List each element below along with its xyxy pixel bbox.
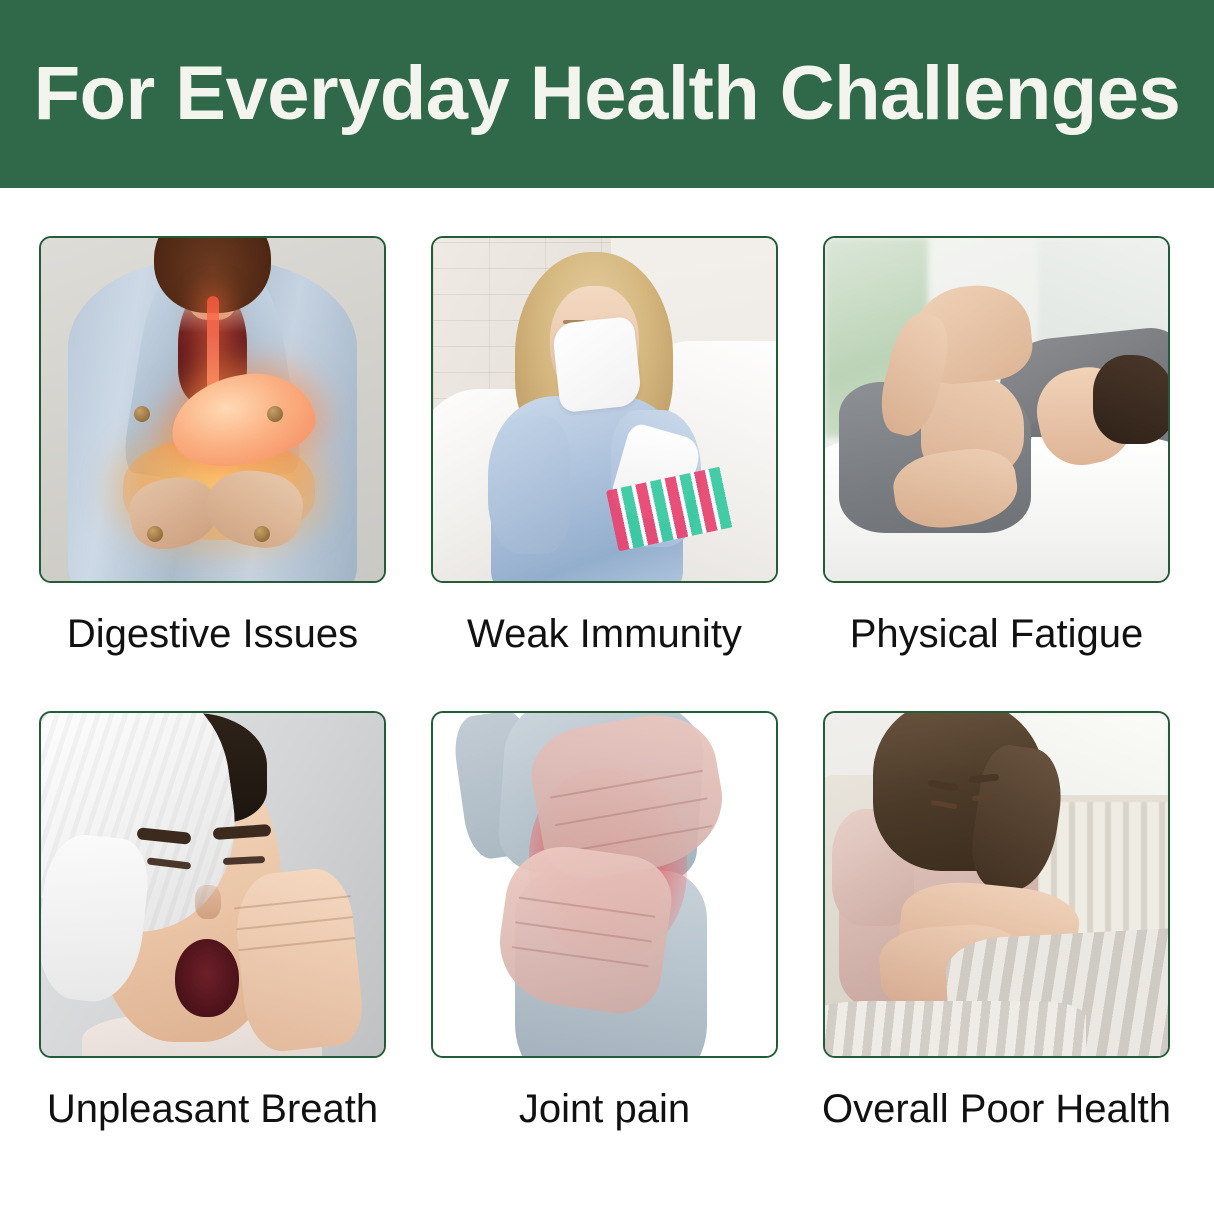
- illustration-overall-poor-health: [825, 713, 1168, 1056]
- thumbnail-weak-immunity[interactable]: [431, 236, 778, 583]
- card-overall-poor-health[interactable]: Overall Poor Health: [823, 711, 1170, 1130]
- thumbnail-overall-poor-health[interactable]: [823, 711, 1170, 1058]
- card-unpleasant-breath[interactable]: Unpleasant Breath: [39, 711, 386, 1130]
- thumbnail-unpleasant-breath[interactable]: [39, 711, 386, 1058]
- card-digestive-issues[interactable]: Digestive Issues: [39, 236, 386, 655]
- card-label-physical-fatigue: Physical Fatigue: [850, 613, 1143, 655]
- card-joint-pain[interactable]: Joint pain: [431, 711, 778, 1130]
- health-challenges-grid: Digestive Issues W: [0, 188, 1214, 1130]
- thumbnail-digestive-issues[interactable]: [39, 236, 386, 583]
- card-label-overall-poor-health: Overall Poor Health: [822, 1088, 1171, 1130]
- page-title: For Everyday Health Challenges: [34, 56, 1181, 132]
- header-banner: For Everyday Health Challenges: [0, 0, 1214, 188]
- thumbnail-physical-fatigue[interactable]: [823, 236, 1170, 583]
- illustration-weak-immunity: [433, 238, 776, 581]
- card-physical-fatigue[interactable]: Physical Fatigue: [823, 236, 1170, 655]
- card-label-weak-immunity: Weak Immunity: [467, 613, 742, 655]
- card-weak-immunity[interactable]: Weak Immunity: [431, 236, 778, 655]
- card-label-digestive-issues: Digestive Issues: [67, 613, 358, 655]
- card-label-joint-pain: Joint pain: [519, 1088, 690, 1130]
- thumbnail-joint-pain[interactable]: [431, 711, 778, 1058]
- illustration-joint-pain: [433, 713, 776, 1056]
- illustration-unpleasant-breath: [41, 713, 384, 1056]
- card-label-unpleasant-breath: Unpleasant Breath: [47, 1088, 378, 1130]
- illustration-digestive-issues: [41, 238, 384, 581]
- illustration-physical-fatigue: [825, 238, 1168, 581]
